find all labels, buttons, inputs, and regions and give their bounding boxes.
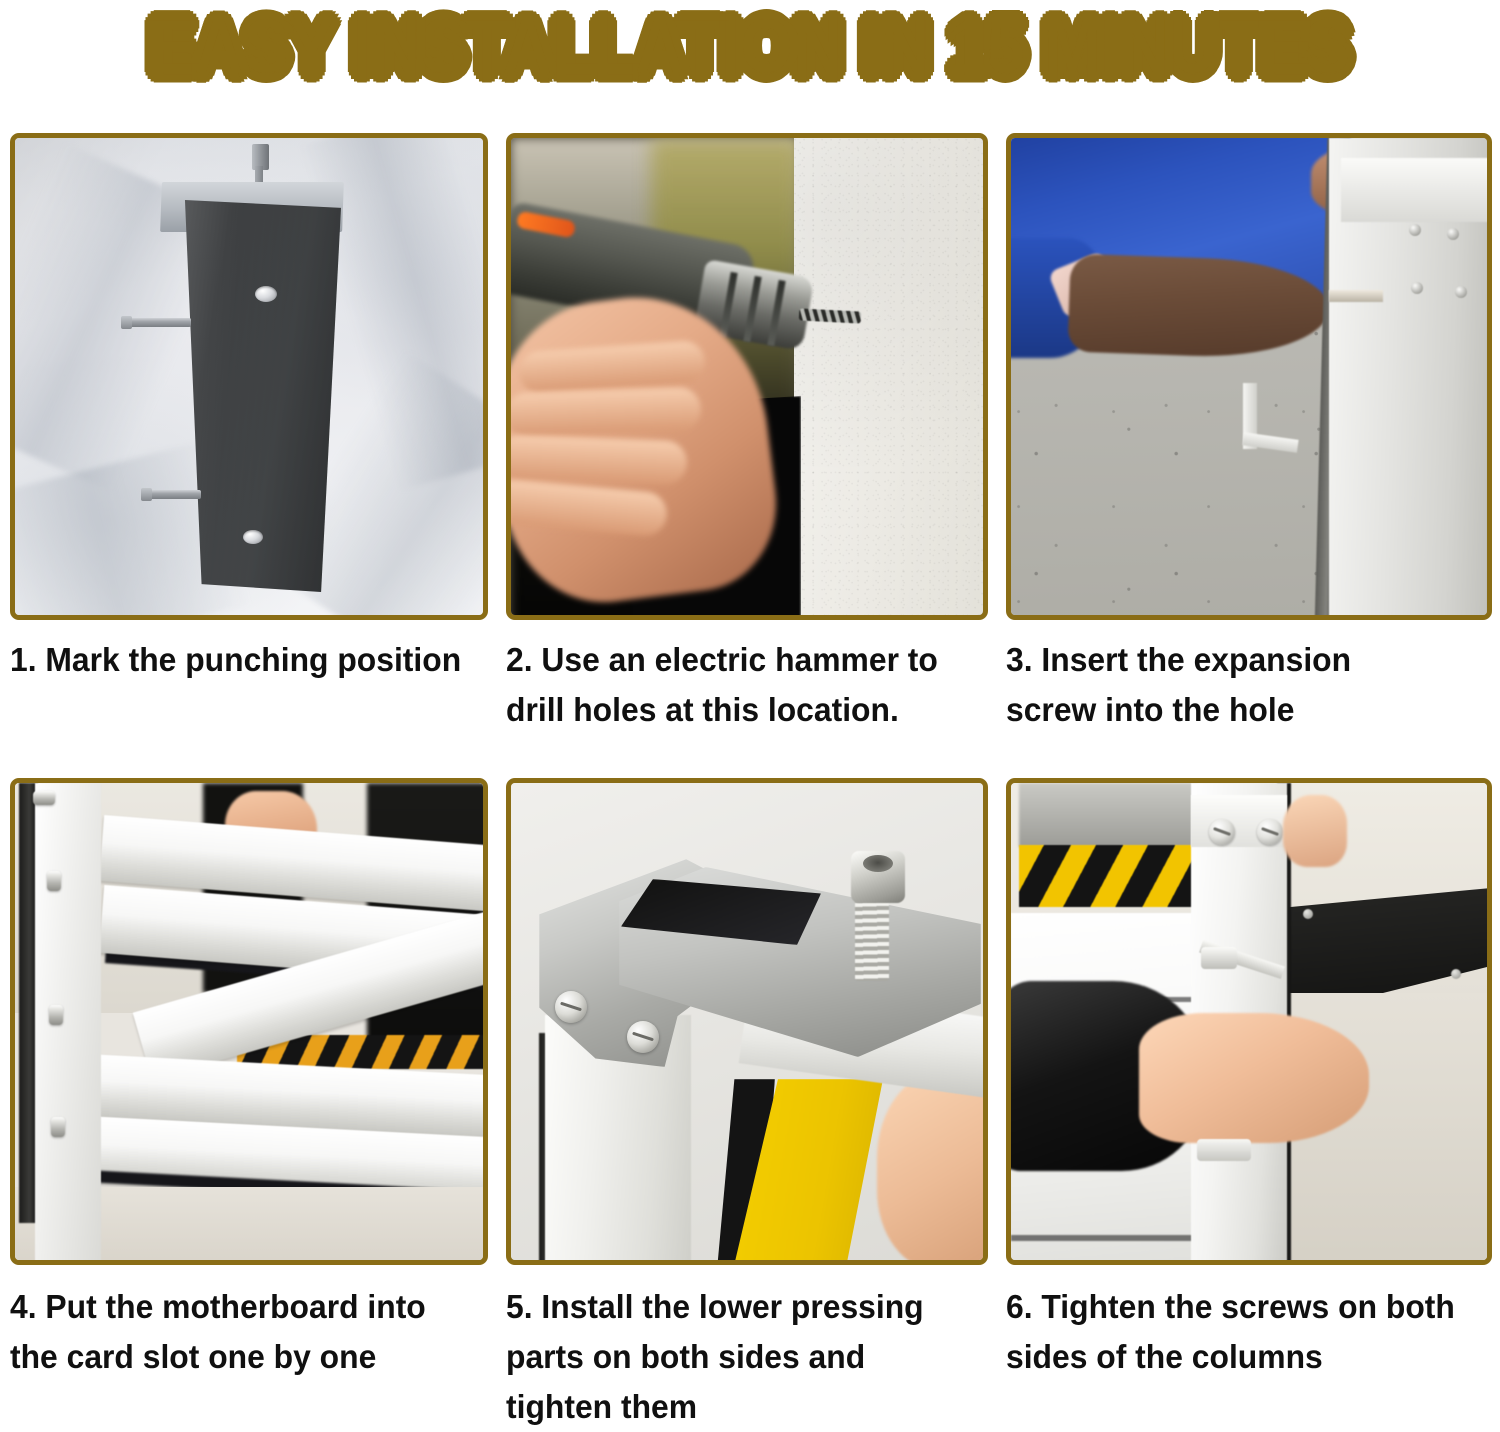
column-screw (1447, 228, 1459, 240)
step-photo-frame-2 (506, 133, 988, 620)
expansion-rod-tip-upper (121, 316, 132, 329)
bracket-screw (555, 991, 587, 1023)
lower-latch (1197, 1139, 1251, 1161)
step-card-6: 6. Tighten the screws on both sides of t… (1000, 778, 1500, 1432)
bracket-screw (627, 1021, 659, 1053)
step-photo-3 (1011, 138, 1487, 615)
step-photo-frame-4 (10, 778, 488, 1265)
step-photo-frame-6 (1006, 778, 1492, 1265)
column-top-plate (1341, 158, 1487, 222)
step-caption-5: 5. Install the lower pressing parts on b… (506, 1282, 971, 1432)
base-bolt (1451, 969, 1461, 979)
panel-seam (1011, 1235, 1197, 1241)
expansion-screw (1329, 290, 1383, 302)
step-caption-1: 1. Mark the punching position (10, 635, 471, 685)
punch-hole-upper (255, 286, 277, 302)
step-caption-2: 2. Use an electric hammer to drill holes… (506, 635, 971, 735)
column-screw (1409, 224, 1421, 236)
page-title: EASY INSTALLATION IN 15 MINUTES (149, 3, 1351, 90)
upper-hand (1283, 795, 1347, 867)
step-card-2: 2. Use an electric hammer to drill holes… (500, 133, 1000, 771)
column-screw (1455, 286, 1467, 298)
steps-row-top: 1. Mark the punching position (0, 133, 1500, 771)
expansion-rod-tip-lower (141, 488, 152, 501)
threaded-bolt-shaft (855, 895, 889, 981)
step-card-5: 5. Install the lower pressing parts on b… (500, 778, 1000, 1432)
step-card-1: 1. Mark the punching position (0, 133, 500, 771)
post-bolt (47, 871, 61, 891)
step-photo-2 (511, 138, 983, 615)
post-top-bracket (33, 791, 55, 805)
expansion-rod-lower (145, 490, 201, 499)
hand (1139, 1013, 1369, 1143)
step-caption-6: 6. Tighten the screws on both sides of t… (1006, 1282, 1475, 1382)
column-screw (1209, 819, 1235, 845)
post-bolt (49, 1005, 63, 1025)
step-photo-4 (15, 783, 483, 1260)
base-bolt (1303, 909, 1313, 919)
expansion-rod-upper (125, 318, 191, 327)
upper-frame-shadow (1019, 783, 1197, 847)
step-photo-frame-3 (1006, 133, 1492, 620)
white-post (35, 783, 101, 1260)
step-photo-frame-1 (10, 133, 488, 620)
column-screw (1257, 819, 1283, 845)
step-card-4: 4. Put the motherboard into the card slo… (0, 778, 500, 1432)
hex-key-knob (1201, 947, 1237, 969)
finger (511, 387, 702, 438)
finger (511, 435, 688, 486)
punch-hole-lower (243, 530, 263, 544)
post-bolt (51, 1117, 65, 1137)
step-photo-frame-5 (506, 778, 988, 1265)
step-photo-1 (15, 138, 483, 615)
steps-row-bottom: 4. Put the motherboard into the card slo… (0, 778, 1500, 1432)
hand (877, 1071, 983, 1260)
step-card-3: 3. Insert the expansion screw into the h… (1000, 133, 1500, 771)
step-caption-3: 3. Insert the expansion screw into the h… (1006, 635, 1475, 735)
step-photo-6 (1011, 783, 1487, 1260)
hazard-stripe (1019, 845, 1199, 907)
textured-wall (794, 138, 983, 615)
bolt-bore (863, 855, 893, 872)
step-photo-5 (511, 783, 983, 1260)
header-banner: EASY INSTALLATION IN 15 MINUTES (0, 0, 1500, 92)
step-caption-4: 4. Put the motherboard into the card slo… (10, 1282, 471, 1382)
installation-steps-grid: 1. Mark the punching position (0, 133, 1500, 1432)
column-screw (1411, 282, 1423, 294)
